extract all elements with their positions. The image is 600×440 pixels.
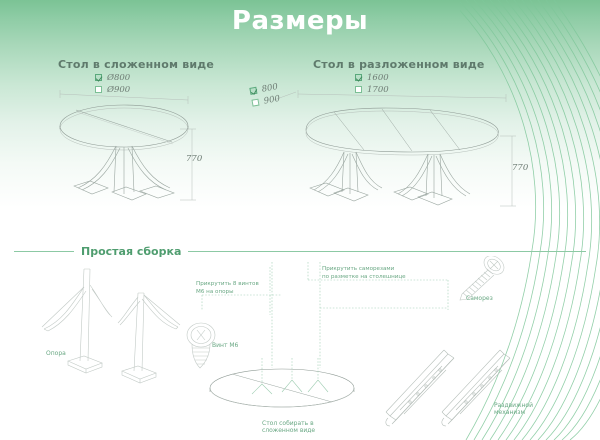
oval-table-drawing bbox=[272, 84, 532, 219]
slide-rail-drawing bbox=[378, 340, 553, 435]
assembly-heading: Простая сборка bbox=[81, 245, 181, 258]
assembly-divider: Простая сборка bbox=[14, 243, 586, 259]
assembly-note-bolts: Прикрутить 8 винтов М6 на опоры bbox=[196, 281, 259, 297]
option-label: 1600 bbox=[367, 73, 389, 83]
checkbox-checked-icon[interactable] bbox=[249, 87, 257, 95]
part-label-support: Опора bbox=[46, 350, 66, 357]
leg-support-drawing bbox=[28, 265, 193, 390]
option-label: Ø800 bbox=[107, 73, 130, 83]
section-heading-folded: Стол в сложенном виде bbox=[58, 58, 214, 71]
divider-rule-left bbox=[14, 251, 74, 252]
checkbox-empty-icon[interactable] bbox=[95, 86, 102, 93]
option-row[interactable]: 1600 bbox=[355, 72, 389, 83]
option-label: Ø900 bbox=[107, 85, 130, 95]
dimension-height-unfolded: 770 bbox=[512, 163, 528, 173]
option-group-unfolded-length[interactable]: 1600 1700 bbox=[355, 72, 389, 96]
section-heading-unfolded: Стол в разложенном виде bbox=[313, 58, 485, 71]
divider-rule-right bbox=[188, 251, 586, 252]
assembly-note-screws: Прикрутить саморезами по разметке на сто… bbox=[322, 266, 406, 282]
option-label: 1700 bbox=[367, 85, 389, 95]
part-label-bolt: Винт М6 bbox=[212, 342, 238, 349]
checkbox-empty-icon[interactable] bbox=[355, 86, 362, 93]
dimension-height-folded: 770 bbox=[186, 154, 202, 164]
checkbox-empty-icon[interactable] bbox=[251, 99, 259, 107]
option-row[interactable]: 1700 bbox=[355, 84, 389, 95]
checkbox-checked-icon[interactable] bbox=[355, 74, 362, 81]
option-group-unfolded-depth[interactable]: 800 900 bbox=[249, 81, 281, 110]
option-row[interactable]: Ø800 bbox=[95, 72, 130, 83]
option-group-folded-diameter[interactable]: Ø800 Ø900 bbox=[95, 72, 130, 96]
part-label-screw: Саморез bbox=[466, 295, 493, 302]
page-title: Размеры bbox=[0, 6, 600, 36]
part-label-assembly-hint: Стол собирать в сложенном виде bbox=[262, 420, 315, 434]
checkbox-checked-icon[interactable] bbox=[95, 74, 102, 81]
poster-root: Размеры Стол в сложенном виде Ø800 Ø900 bbox=[0, 0, 600, 440]
round-table-drawing bbox=[52, 84, 212, 214]
option-label: 900 bbox=[263, 93, 281, 106]
option-row[interactable]: Ø900 bbox=[95, 84, 130, 95]
part-label-slide-mechanism: Раздвижной механизм bbox=[494, 402, 533, 416]
tabletop-assembly-drawing bbox=[206, 358, 366, 420]
